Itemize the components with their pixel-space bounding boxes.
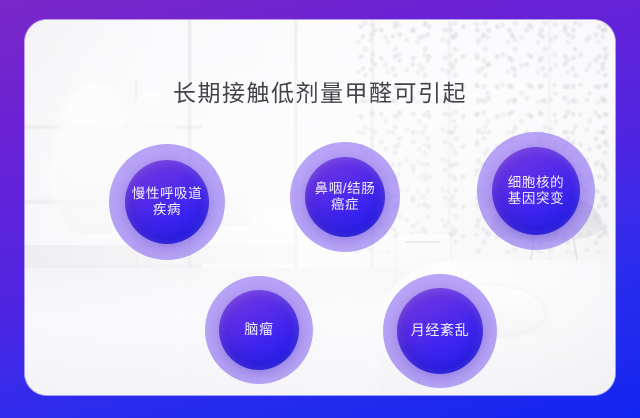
infographic-slide: 长期接触低剂量甲醛可引起 慢性呼吸道 疾病 鼻咽/结肠 癌症 细胞核的	[0, 0, 640, 418]
bubble-label-line: 月经紊乱	[411, 322, 469, 339]
bubble-core: 细胞核的 基因突变	[492, 147, 580, 235]
bubble-nuclear-gene-mutation[interactable]: 细胞核的 基因突变	[477, 132, 595, 250]
bubble-core: 鼻咽/结肠 癌症	[305, 157, 385, 237]
bubble-brain-tumor[interactable]: 脑瘤	[205, 276, 313, 384]
bubble-chronic-respiratory-disease[interactable]: 慢性呼吸道 疾病	[109, 144, 225, 260]
bubble-label-line: 细胞核的	[508, 175, 564, 191]
bubble-label-line: 慢性呼吸道	[132, 186, 203, 202]
bubble-label-line: 基因突变	[508, 191, 564, 207]
page-title: 长期接触低剂量甲醛可引起	[25, 74, 615, 108]
bubble-label-line: 疾病	[132, 202, 203, 218]
bubble-core: 月经紊乱	[397, 288, 483, 374]
bubble-label-line: 鼻咽/结肠	[315, 181, 376, 197]
bubble-core: 慢性呼吸道 疾病	[125, 160, 209, 244]
bubble-label-line: 脑瘤	[244, 321, 273, 338]
photo-card: 长期接触低剂量甲醛可引起 慢性呼吸道 疾病 鼻咽/结肠 癌症 细胞核的	[25, 20, 615, 395]
bubble-label-line: 癌症	[315, 197, 376, 213]
bubble-core: 脑瘤	[219, 290, 299, 370]
bubble-nasopharyngeal-colon-cancer[interactable]: 鼻咽/结肠 癌症	[290, 142, 400, 252]
bubble-menstrual-disorder[interactable]: 月经紊乱	[383, 274, 497, 388]
